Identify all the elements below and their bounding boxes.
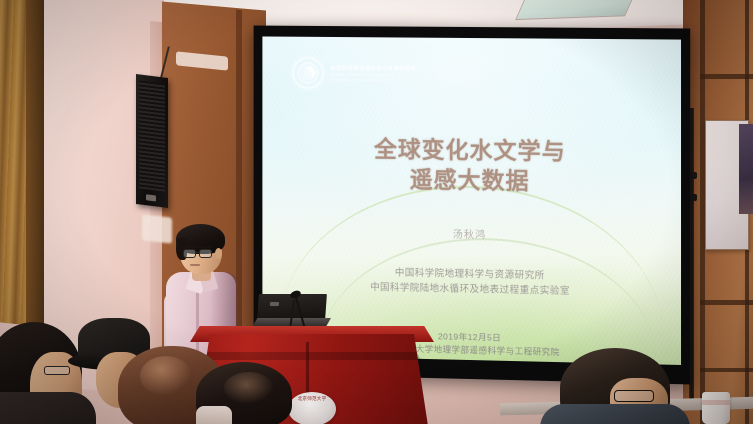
audience-hair-highlight [140, 356, 192, 396]
presenter-glasses-lens [183, 249, 196, 258]
audience-shoulders [0, 392, 96, 424]
paper-cup [702, 392, 730, 424]
podium-emblem: 北京师范大学 [288, 392, 336, 424]
wall-poster-image [739, 124, 753, 214]
audience-glasses [44, 366, 70, 375]
institute-seal-icon [293, 57, 323, 88]
wood-panel-seam [700, 368, 753, 372]
paper-cup-band [702, 400, 730, 405]
audience-shoulders [540, 404, 690, 424]
wood-panel-seam [700, 300, 753, 305]
wall-patch [142, 214, 172, 243]
presenter-glasses-bridge [196, 252, 200, 253]
laptop-logo [270, 302, 279, 306]
slide-logo-text: 中国科学院地理科学与资源研究所 Institute of Geographic … [331, 65, 417, 83]
slide-logo-en-line1: Institute of Geographic Sciences and [331, 73, 417, 78]
curtain-shadow-fold [26, 0, 44, 335]
presenter-eyebrow [185, 246, 212, 248]
audience-hair-highlight [224, 372, 274, 404]
slide-logo-en-line2: Natural Resources Research, CAS [331, 78, 417, 83]
podium-shadow-band [196, 352, 428, 360]
presenter-glasses-lens [199, 249, 212, 258]
audience-glasses [614, 390, 654, 402]
presenter-mouth [190, 264, 200, 266]
speaker-grill [139, 80, 165, 191]
podium-emblem-text: 北京师范大学 [288, 396, 336, 402]
audience-collar [196, 406, 232, 424]
presenter-ear [215, 248, 222, 259]
wall-speaker [136, 74, 168, 208]
wood-panel-seam [700, 74, 753, 79]
presentation-photo-scene: 中国科学院地理科学与资源研究所 Institute of Geographic … [0, 0, 753, 424]
slide-institute-logo: 中国科学院地理科学与资源研究所 Institute of Geographic … [293, 57, 416, 89]
speaker-brand-logo [146, 194, 156, 201]
slide-title: 全球变化水文学与 遥感大数据 [262, 132, 681, 199]
slide-title-line2: 遥感大数据 [262, 163, 681, 200]
slide-logo-cn: 中国科学院地理科学与资源研究所 [331, 65, 417, 73]
